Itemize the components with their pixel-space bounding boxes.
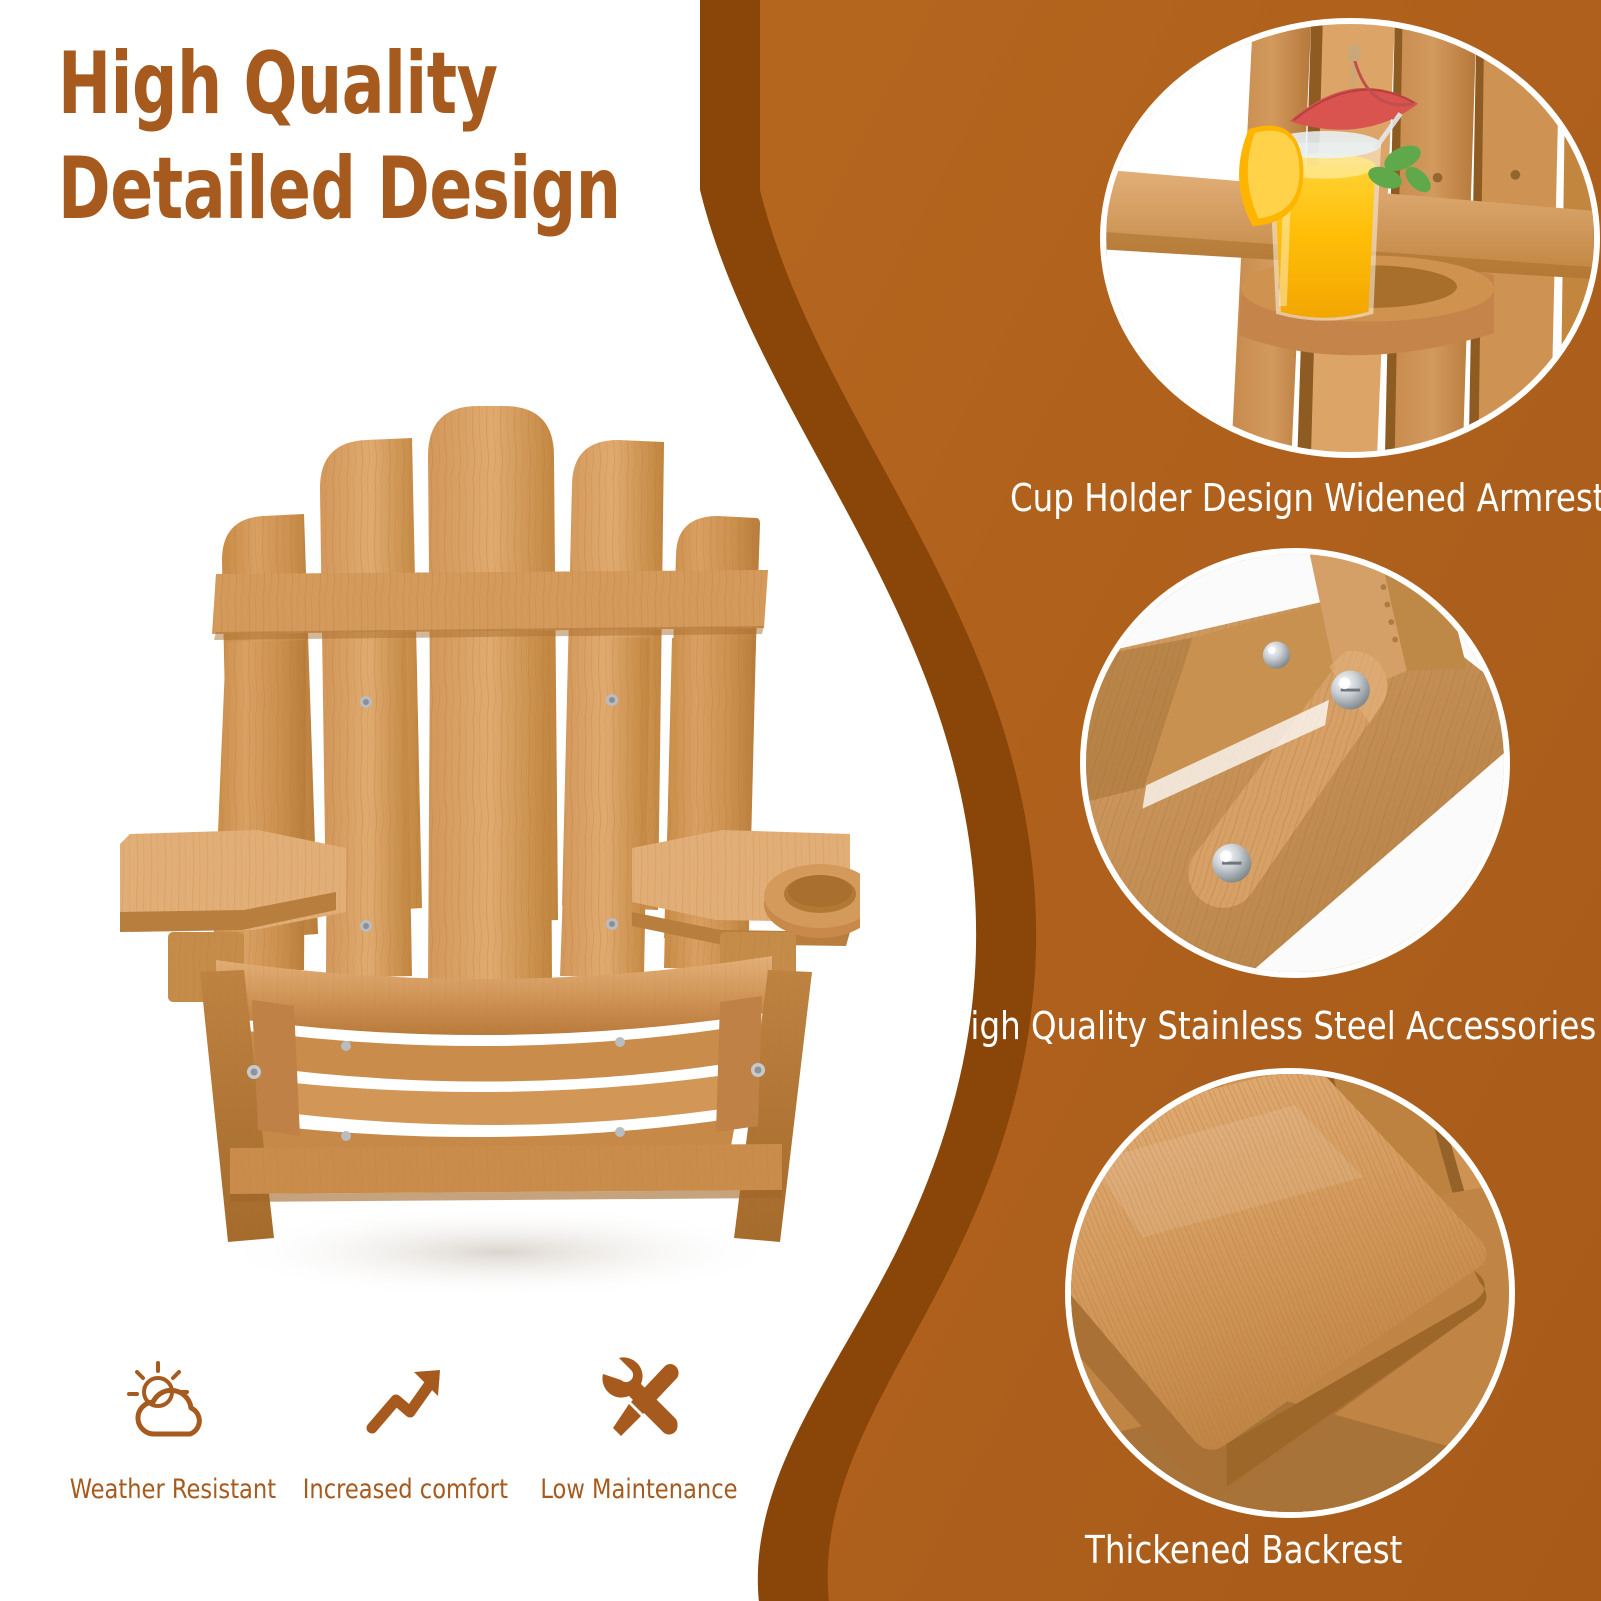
detail-caption-stainless-hardware: High Quality Stainless Steel Accessories	[946, 1004, 1596, 1048]
detail-circle-thickened-backrest	[1065, 1068, 1515, 1518]
cup-holder-ring	[764, 864, 860, 938]
infographic-canvas: High Quality Detailed Design	[0, 0, 1601, 1601]
feature-item: Weather Resistant	[56, 1352, 289, 1505]
wrench-screwdriver-icon	[591, 1352, 687, 1448]
feature-label: Low Maintenance	[540, 1474, 737, 1505]
sun-cloud-icon	[125, 1352, 221, 1448]
page-title: High Quality Detailed Design	[58, 32, 648, 242]
feature-label: Increased comfort	[303, 1474, 508, 1505]
feature-highlights: Weather Resistant Increased comfort	[56, 1352, 756, 1505]
detail-circle-stainless-hardware	[1080, 548, 1510, 978]
feature-item: Increased comfort	[289, 1352, 522, 1505]
floor-shadow	[220, 1206, 780, 1298]
title-line-2: Detailed Design	[58, 137, 648, 242]
detail-circle-cup-holder	[1100, 18, 1600, 458]
detail-caption-cup-holder: Cup Holder Design Widened Armrests	[1010, 476, 1601, 520]
feature-label: Weather Resistant	[69, 1474, 275, 1505]
title-line-1: High Quality	[58, 32, 648, 137]
back-top-rail	[212, 570, 768, 640]
trending-up-arrow-icon	[358, 1352, 454, 1448]
detail-caption-thickened-backrest: Thickened Backrest	[1085, 1528, 1402, 1572]
product-hero-image	[120, 360, 860, 1310]
feature-item: Low Maintenance	[522, 1352, 755, 1505]
